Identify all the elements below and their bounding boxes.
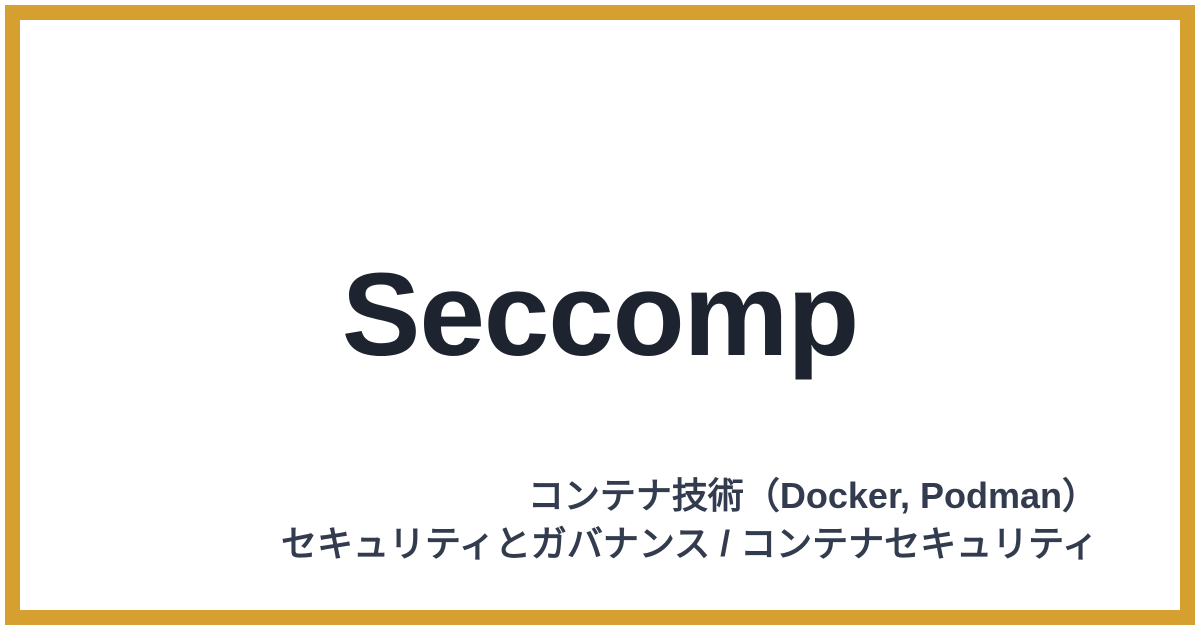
title-card: Seccomp コンテナ技術（Docker, Podman） セキュリティとガバ… [0,0,1200,630]
subtitle-line-category: コンテナ技術（Docker, Podman） [281,472,1098,520]
card-content: Seccomp コンテナ技術（Docker, Podman） セキュリティとガバ… [20,20,1180,610]
page-title: Seccomp [342,256,858,374]
subtitle-block: コンテナ技術（Docker, Podman） セキュリティとガバナンス / コン… [281,472,1098,568]
title-block: Seccomp [20,256,1180,374]
subtitle-line-breadcrumb: セキュリティとガバナンス / コンテナセキュリティ [281,520,1098,568]
